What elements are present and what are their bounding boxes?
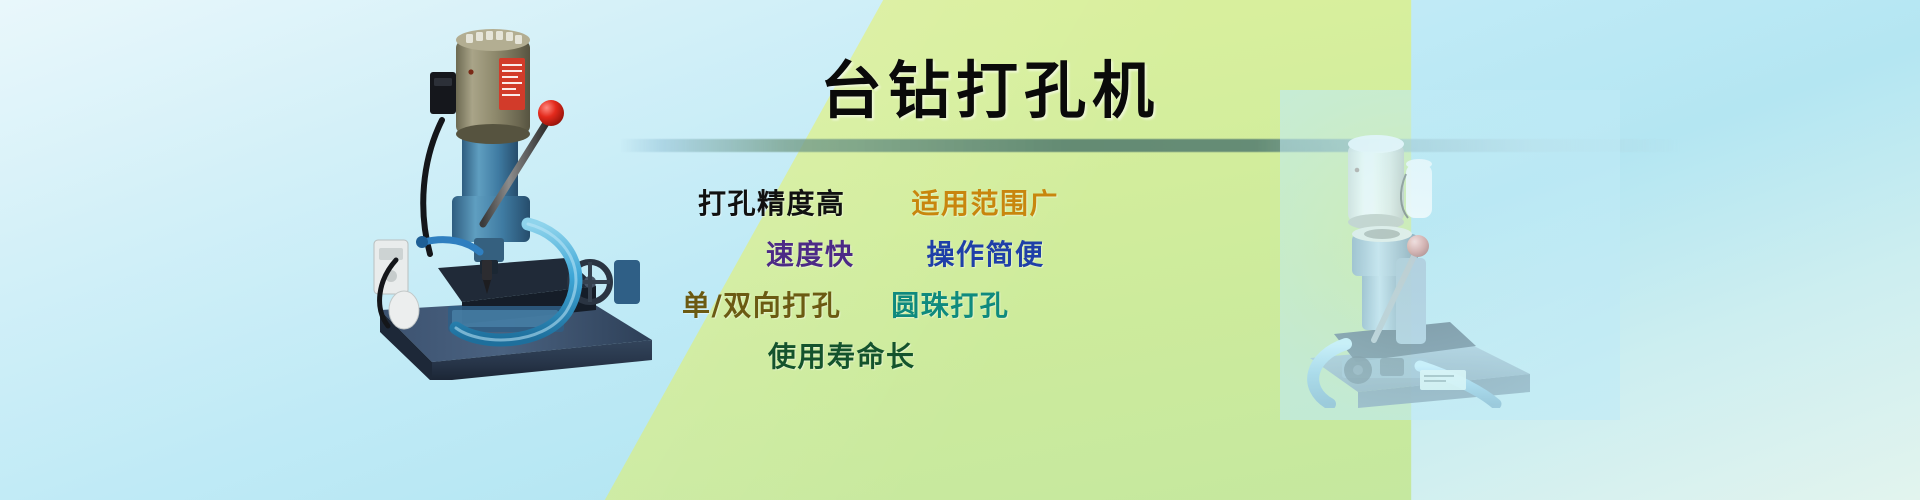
feature-item: 圆珠打孔 <box>891 284 1009 324</box>
banner-content: 台钻打孔机 打孔精度高 适用范围广 速度快 操作简便 单/双向打孔 圆珠打孔 使… <box>620 0 1360 500</box>
feature-row: 打孔精度高 适用范围广 <box>620 176 1360 227</box>
feature-item: 打孔精度高 <box>698 182 846 222</box>
feature-list: 打孔精度高 适用范围广 速度快 操作简便 单/双向打孔 圆珠打孔 使用寿命长 <box>620 176 1360 380</box>
product-banner: 台钻打孔机 打孔精度高 适用范围广 速度快 操作简便 单/双向打孔 圆珠打孔 使… <box>0 0 1920 500</box>
feature-item: 单/双向打孔 <box>682 284 841 324</box>
feature-item: 操作简便 <box>927 233 1045 273</box>
feature-item: 速度快 <box>766 233 855 273</box>
feature-row: 单/双向打孔 圆珠打孔 <box>620 278 1360 329</box>
feature-item: 适用范围广 <box>912 182 1060 222</box>
feature-row: 使用寿命长 <box>620 329 1360 380</box>
page-title: 台钻打孔机 <box>620 40 1360 130</box>
feature-item: 使用寿命长 <box>768 335 916 375</box>
feature-row: 速度快 操作简便 <box>620 227 1360 278</box>
